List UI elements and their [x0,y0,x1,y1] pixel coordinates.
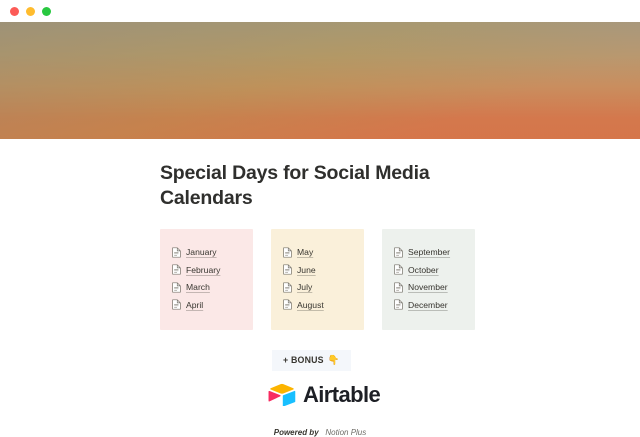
page-icon [394,264,403,275]
pointing-down-icon: 👇 [328,356,340,366]
bonus-badge[interactable]: + BONUS 👇 [272,350,351,371]
list-item[interactable]: February [172,264,253,275]
minimize-window-button[interactable] [26,7,35,16]
list-item[interactable]: June [283,264,364,275]
list-item[interactable]: December [394,299,475,310]
traffic-light-group [10,7,51,16]
month-card-q1: January February March [160,229,253,331]
list-item-label: November [408,282,448,292]
list-item[interactable]: March [172,282,253,293]
airtable-logo[interactable]: Airtable [268,383,480,406]
list-item-label: February [186,265,220,275]
window-titlebar [0,0,640,22]
bonus-label: + BONUS [283,355,324,365]
page-icon [172,299,181,310]
footer-brand-link[interactable]: Notion Plus [325,428,366,437]
list-item-label: March [186,282,210,292]
page-icon [283,264,292,275]
list-item-label: August [297,300,324,310]
footer-space [321,428,323,437]
maximize-window-button[interactable] [42,7,51,16]
page-icon [172,282,181,293]
page-title: Special Days for Social Media Calendars [160,139,430,211]
page-icon [283,282,292,293]
list-item[interactable]: August [283,299,364,310]
bonus-section: + BONUS 👇 [160,350,480,371]
page-icon [283,299,292,310]
hero-cover-image [0,22,640,139]
list-item-label: September [408,247,450,257]
list-item-label: October [408,265,439,275]
page-icon [172,247,181,258]
month-card-q3: September October Nove [382,229,475,331]
list-item-label: April [186,300,203,310]
month-card-group: January February March [160,229,480,331]
page-icon [172,264,181,275]
list-item[interactable]: July [283,282,364,293]
month-card-q2: May June July [271,229,364,331]
list-item[interactable]: May [283,247,364,258]
list-item[interactable]: September [394,247,475,258]
list-item[interactable]: January [172,247,253,258]
page-icon [394,299,403,310]
page-icon [394,282,403,293]
list-item-label: January [186,247,217,257]
list-item[interactable]: April [172,299,253,310]
list-item-label: June [297,265,316,275]
list-item-label: July [297,282,312,292]
footer-powered-by-label: Powered by [274,428,319,437]
page-icon [394,247,403,258]
page-icon [283,247,292,258]
close-window-button[interactable] [10,7,19,16]
footer: Powered by Notion Plus [160,428,480,437]
list-item-label: December [408,300,448,310]
list-item[interactable]: October [394,264,475,275]
list-item[interactable]: November [394,282,475,293]
content-column: Special Days for Social Media Calendars … [0,139,640,437]
page-body: Special Days for Social Media Calendars … [0,139,640,437]
list-item-label: May [297,247,313,257]
airtable-logo-icon [268,383,296,406]
airtable-wordmark: Airtable [303,384,380,406]
